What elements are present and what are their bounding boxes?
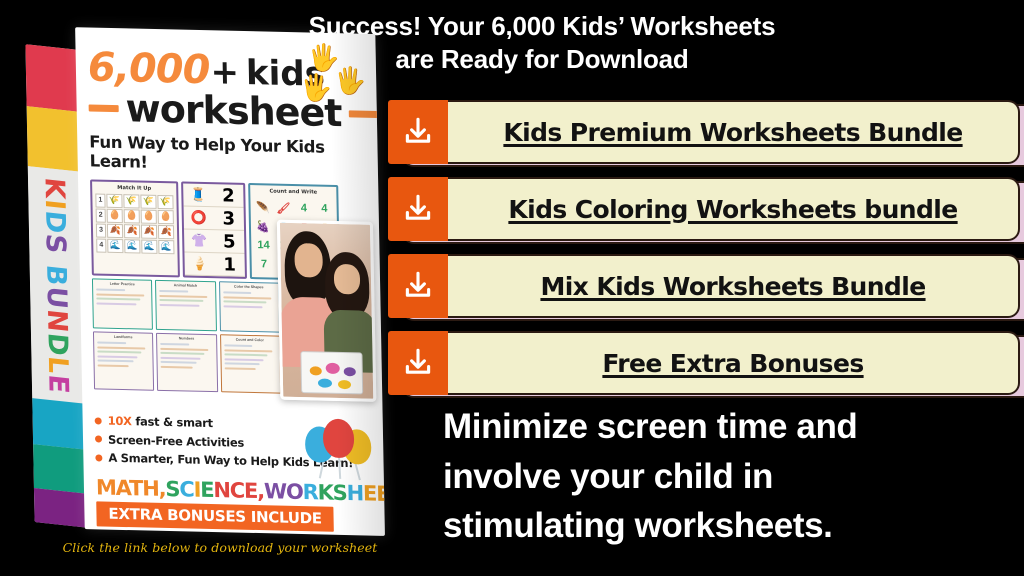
number-cell: 7 [255,256,274,273]
subject-letter: C [230,478,245,502]
mother-child-photo [277,220,377,402]
balloon-red [323,419,355,459]
subject-letter: S [165,477,179,501]
count-row-value: 1 [214,254,244,276]
count-row-value: 3 [214,208,244,230]
match-row-number: 2 [96,208,106,222]
download-link-caption: Click the link below to download your wo… [40,540,400,555]
match-cell: 🌊 [158,239,174,253]
button-label-area[interactable]: Mix Kids Worksheets Bundle [448,254,1020,318]
download-button[interactable]: Kids Coloring Worksheets bundle [388,177,1024,241]
count-row: 🧵2 [183,184,243,208]
worksheet-thumbnail-title: Color the Shapes [220,282,278,289]
spine-letter: E [42,373,73,396]
download-button-list: Kids Premium Worksheets BundleKids Color… [388,100,1024,408]
button-face[interactable]: Kids Premium Worksheets Bundle [388,100,1020,164]
count-row-icon: ⭕ [184,210,214,227]
spine-band-green [33,444,86,494]
number-cell: 4 [294,200,313,217]
product-box-front: 🖐 🖐 🖐 6,000+kids worksheet Fun Way to He… [75,27,385,536]
subject-letter: S [332,481,346,505]
spine-band-blue [32,398,85,450]
match-cell: 🍂 [107,223,123,237]
subject-letter: C [179,477,194,501]
download-icon[interactable] [388,254,448,318]
bullet-dot-icon [95,454,102,461]
download-button[interactable]: Kids Premium Worksheets Bundle [388,100,1024,164]
subject-letter: E [200,478,214,502]
button-label-area[interactable]: Free Extra Bonuses [448,331,1020,395]
photo-worksheet-page [300,351,363,394]
count-row: ⭕3 [184,207,244,231]
subject-letter: E [376,482,385,506]
bullet-dot-icon [95,417,102,424]
button-label-area[interactable]: Kids Premium Worksheets Bundle [448,100,1020,164]
worksheet-thumbnail: Landforms [93,331,154,390]
match-cell: 🌊 [141,239,157,253]
match-cell: 🌊 [107,238,123,252]
dash-right [348,110,378,118]
spine-letter: D [41,331,73,358]
match-row-number: 3 [96,223,106,237]
worksheet-thumbnail-title: Landforms [94,332,152,339]
spine-band-yellow [27,106,80,172]
match-cell: 🌊 [124,239,140,253]
worksheet-thumbnail-title: Numbers [157,334,215,341]
download-icon[interactable] [388,331,448,395]
subject-letter: N [213,478,230,502]
hand-red-icon: 🖐 [300,74,333,101]
worksheet-thumbnail: Color the Shapes [219,281,280,332]
download-button[interactable]: Free Extra Bonuses [388,331,1024,395]
match-cell: 🍂 [158,224,174,238]
subject-letter: O [286,480,303,504]
download-button-label: Mix Kids Worksheets Bundle [540,272,925,301]
count-row-icon: 🧵 [183,187,213,204]
download-button-label: Kids Premium Worksheets Bundle [503,118,962,147]
balloons-graphic [303,412,374,480]
worksheet-thumbnail: Numbers [156,333,217,392]
worksheet-card-match: Match It Up 1🌾🌾🌾🌾2🥚🥚🥚🥚3🍂🍂🍂🍂4🌊🌊🌊🌊 [90,179,180,277]
tagline-line-1: Minimize screen time and [443,402,973,452]
number-cell: 🍇 [254,218,273,235]
worksheet-thumbnail: Animal Match [155,280,216,331]
tagline-line-2: involve your child in [443,452,973,502]
match-cell: 🥚 [141,209,157,223]
tagline: Minimize screen time and involve your ch… [443,402,973,551]
subject-letter: E [363,481,377,505]
download-button-label: Free Extra Bonuses [602,349,863,378]
box-subtitle: Fun Way to Help Your Kids Learn! [89,132,366,176]
match-cell: 🌾 [123,194,139,208]
subject-letter: K [317,480,333,504]
product-box-image: KIDS BUNDLE 🖐 🖐 🖐 6,000+kids worksh [26,28,386,533]
hand-green-icon: 🖐 [334,67,367,94]
download-button[interactable]: Mix Kids Worksheets Bundle [388,254,1024,318]
match-row-number: 4 [96,238,106,252]
extra-bonuses-bar: EXTRA BONUSES INCLUDE [96,501,334,531]
subject-letter: H [346,481,363,505]
spine-title-kids-bundle: KIDS BUNDLE [38,176,73,396]
count-row: 👚5 [184,230,244,254]
button-face[interactable]: Kids Coloring Worksheets bundle [388,177,1020,241]
number-cell: 4 [315,200,334,217]
subject-letter: W [264,479,286,503]
spine-letter: D [39,209,71,236]
promo-banner: Success! Your 6,000 Kids’ Worksheets are… [0,0,1024,576]
bullet-dot-icon [95,435,102,442]
spine-letter: U [41,285,73,311]
match-row-number: 1 [95,193,105,207]
spine-band-purple [34,488,87,528]
number-cell: 🪶 [253,199,272,216]
count-row-icon: 🍦 [185,256,215,273]
match-cell: 🌾 [157,194,173,208]
download-button-label: Kids Coloring Worksheets bundle [508,195,957,224]
match-cell: 🌾 [140,194,156,208]
worksheet-thumbnail: Count and Color [220,334,281,393]
spine-band-red [25,44,78,112]
worksheet-thumbnail-title: Animal Match [156,281,214,288]
match-cell: 🥚 [107,208,123,222]
number-cell: 14 [254,237,273,254]
worksheet-thumbnail-title: Count and Color [221,335,279,342]
match-cell: 🥚 [124,209,140,223]
count-row: 🍦1 [184,253,244,277]
subject-letter: R [302,480,317,504]
handprints-group: 🖐 🖐 🖐 [293,44,368,108]
feature-bullet-label: Screen-Free Activities [108,432,244,449]
match-cell: 🥚 [158,209,174,223]
worksheet-thumbnail: Letter Practice [92,278,153,329]
box-title-plus: + [210,52,239,93]
count-row-icon: 👚 [184,233,214,250]
match-cell: 🍂 [124,224,140,238]
match-cell: 🌾 [106,193,122,207]
photo-adult-face [294,243,323,278]
download-icon[interactable] [388,100,448,164]
feature-bullet-label: 10X fast & smart [108,414,213,430]
count-row-value: 5 [214,231,244,253]
count-row-value: 2 [213,185,243,207]
worksheet-thumbnail-title: Letter Practice [93,279,151,286]
worksheet-card-count: 🧵2⭕3👚5🍦1 [181,181,247,278]
download-icon[interactable] [388,177,448,241]
button-label-area[interactable]: Kids Coloring Worksheets bundle [448,177,1020,241]
dash-left [89,104,119,112]
subject-letter: MATH, [96,475,166,501]
button-face[interactable]: Free Extra Bonuses [388,331,1020,395]
match-cell: 🍂 [141,224,157,238]
subject-letter: E, [244,479,264,503]
tagline-line-3: stimulating worksheets. [443,501,973,551]
number-cell: 🖌 [274,199,293,216]
photo-child-face [334,264,361,295]
spine-letter: N [41,308,73,335]
button-face[interactable]: Mix Kids Worksheets Bundle [388,254,1020,318]
